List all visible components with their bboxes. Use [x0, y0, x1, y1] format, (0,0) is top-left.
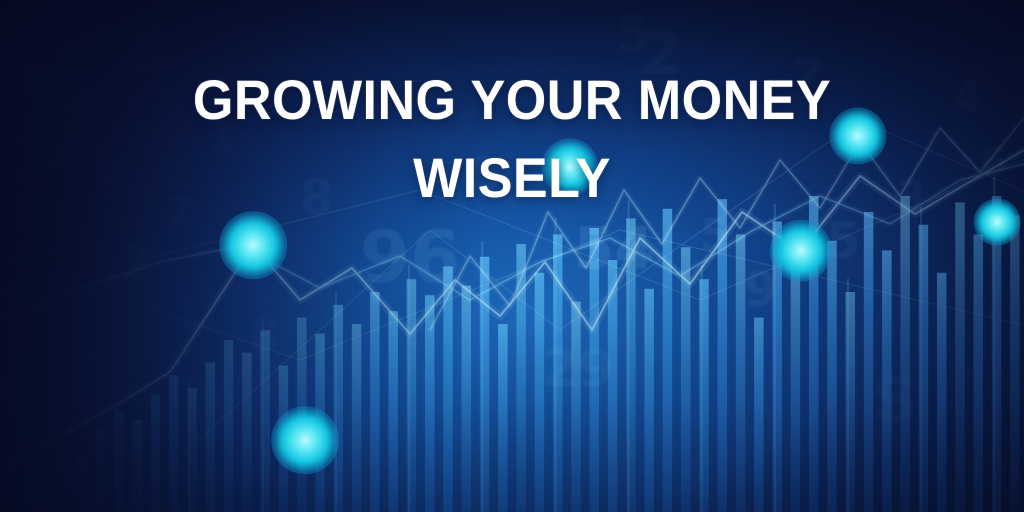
glow-dot-1-icon	[219, 211, 287, 279]
glow-dot-3-icon	[770, 220, 832, 282]
glow-dot-5-icon	[271, 406, 339, 474]
banner-image: 35942719685545953292574618S	[0, 0, 1024, 512]
glow-dots-layer	[0, 0, 1024, 512]
glow-dot-4-icon	[829, 107, 886, 164]
glow-dot-6-icon	[974, 199, 1021, 246]
glow-dot-2-icon	[541, 138, 598, 195]
